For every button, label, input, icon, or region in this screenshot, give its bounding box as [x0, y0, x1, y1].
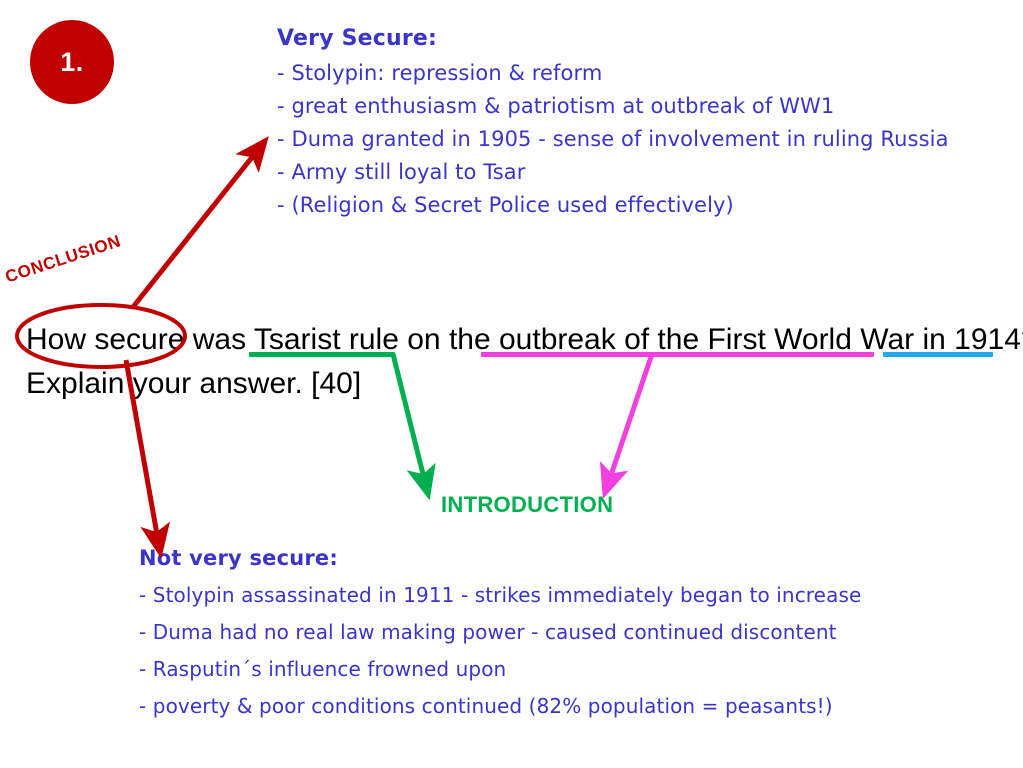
notes-not-very-secure-item-2: - Duma had no real law making power - ca…	[139, 620, 861, 644]
red-arrow-up-to-very-secure	[133, 151, 257, 307]
notes-not-very-secure-item-3: - Rasputin´s influence frowned upon	[139, 657, 861, 681]
slide-number-badge: 1.	[30, 20, 114, 104]
label-introduction: INTRODUCTION	[441, 492, 613, 518]
notes-very-secure-item-3: - Duma granted in 1905 - sense of involv…	[277, 127, 949, 151]
notes-very-secure-item-2: - great enthusiasm & patriotism at outbr…	[277, 94, 949, 118]
notes-very-secure-item-5: - (Religion & Secret Police used effecti…	[277, 193, 949, 217]
notes-not-very-secure-heading: Not very secure:	[139, 546, 861, 570]
underline-outbreak-first-world-war	[481, 352, 874, 357]
notes-not-very-secure-item-4: - poverty & poor conditions continued (8…	[139, 694, 861, 718]
notes-very-secure-item-1: - Stolypin: repression & reform	[277, 61, 949, 85]
label-conclusion: CONCLUSION	[3, 231, 124, 287]
exam-question-line-2: Explain your answer. [40]	[26, 362, 1023, 406]
slide-number-label: 1.	[60, 47, 84, 78]
notes-not-very-secure: Not very secure: - Stolypin assassinated…	[139, 546, 861, 731]
underline-in-1914	[883, 352, 993, 357]
notes-not-very-secure-item-1: - Stolypin assassinated in 1911 - strike…	[139, 583, 861, 607]
exam-question-text: How secure was Tsarist rule on the outbr…	[26, 318, 1023, 406]
notes-very-secure: Very Secure: - Stolypin: repression & re…	[277, 26, 949, 226]
slide-canvas: 1. Very Secure: - Stolypin: repression &…	[0, 0, 1023, 768]
notes-very-secure-item-4: - Army still loyal to Tsar	[277, 160, 949, 184]
underline-tsarist-rule	[249, 352, 395, 357]
notes-very-secure-heading: Very Secure:	[277, 26, 949, 51]
